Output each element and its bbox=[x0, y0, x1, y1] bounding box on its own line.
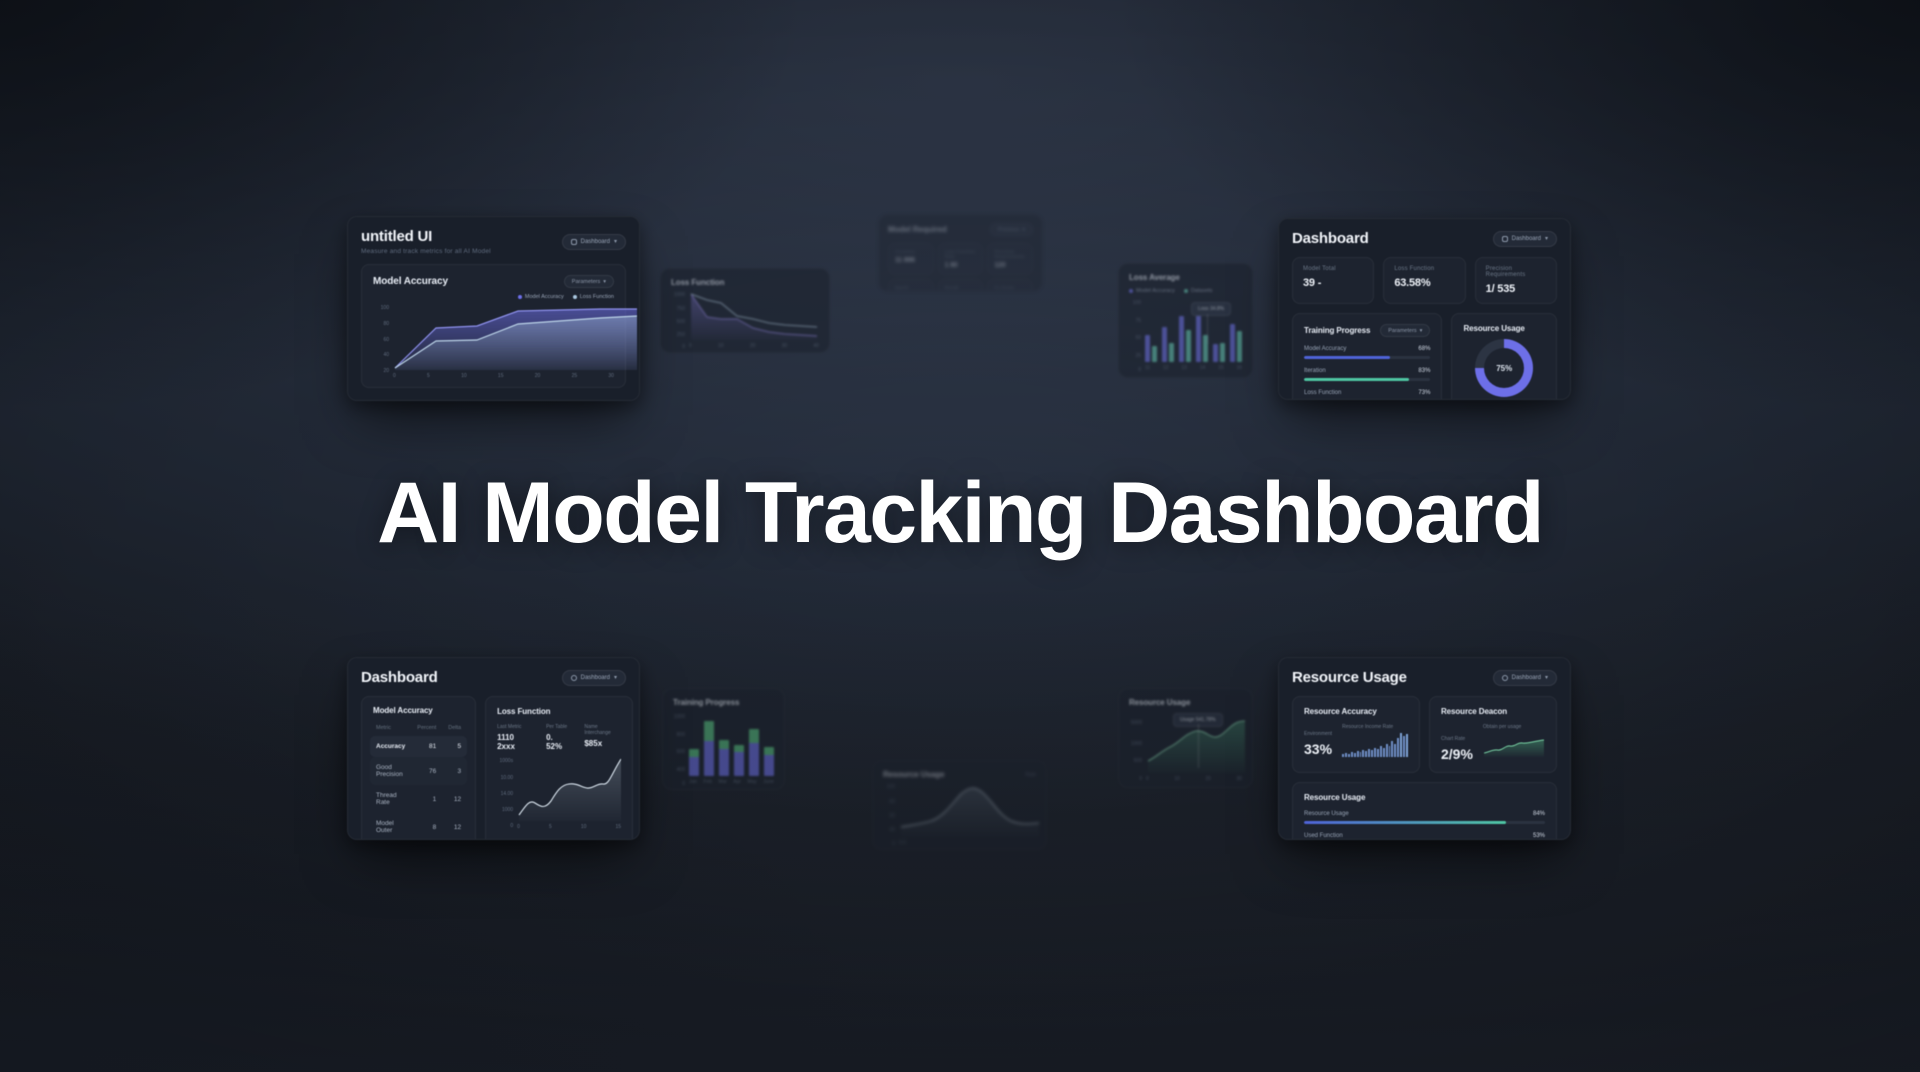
resource-usage-big-header: Resource Usage Dashboard ▾ bbox=[1292, 669, 1557, 686]
card-dashboard-table[interactable]: Dashboard Dashboard ▾ Model Accuracy Met… bbox=[347, 657, 640, 840]
card-resource-usage-ghost[interactable]: Resource Usage Rate 1008060400 bbox=[872, 760, 1047, 850]
loss-function-svg bbox=[517, 757, 621, 821]
previous-button[interactable]: Previous ▾ bbox=[990, 223, 1033, 236]
header-dashboard-button[interactable]: Dashboard ▾ bbox=[562, 670, 626, 686]
header-dashboard-button-label: Dashboard bbox=[1512, 236, 1541, 242]
stat-tile-precision: Precision Requirements 1/ 535 bbox=[1475, 257, 1557, 304]
legend-dot-icon bbox=[1129, 289, 1133, 293]
tooltip-line bbox=[1207, 314, 1208, 344]
resource-deacon-title: Resource Deacon bbox=[1441, 707, 1545, 716]
resource-usage-chart: 1008060400 0.0 bbox=[883, 783, 1036, 847]
stacked-bar bbox=[749, 729, 759, 776]
column-header: Metric bbox=[370, 720, 411, 736]
training-progress-title: Training Progress bbox=[1304, 326, 1370, 335]
loss-function-xaxis: 0 5 10 15 bbox=[497, 821, 621, 830]
model-accuracy-legend: Model Accuracy Loss Function bbox=[373, 294, 614, 300]
loss-function-panel: Loss Function Last Metric1110 2xxx Per T… bbox=[485, 696, 633, 840]
stacked-bar bbox=[704, 721, 714, 776]
legend-item: Model Accuracy bbox=[1129, 288, 1175, 294]
loss-average-xaxis: 11 12 13 14 15 16 bbox=[1129, 362, 1242, 371]
resource-usage-panel: Resource Usage 75% Used 24 hrs/hr Remain… bbox=[1451, 313, 1557, 400]
dashboard-metrics-header: Dashboard Dashboard ▾ bbox=[1292, 230, 1557, 247]
column-header: Percent bbox=[411, 720, 442, 736]
resource-deacon-value: 2/9% bbox=[1441, 746, 1473, 762]
card-training-progress-small[interactable]: Training Progress 10008006004000 Jan Feb… bbox=[662, 688, 785, 790]
progress-row: Model Accuracy68% bbox=[1304, 346, 1430, 359]
resource-usage-xaxis: 0 10 20 30 bbox=[1129, 773, 1242, 782]
page-subtitle: Measure and track metrics for all AI Mod… bbox=[361, 248, 491, 255]
resource-deacon-panel: Resource Deacon Chart Rate 2/9% Obtain p… bbox=[1429, 696, 1557, 773]
legend-item: Model Accuracy bbox=[518, 294, 564, 300]
header-dashboard-button[interactable]: Dashboard ▾ bbox=[1493, 670, 1557, 686]
column-header: Delta bbox=[442, 720, 467, 736]
resource-usage-title: Resource Usage bbox=[1129, 698, 1242, 707]
loss-function-chart: 10007505002500 0 10 bbox=[671, 292, 819, 350]
model-params-title: Model Required bbox=[888, 225, 947, 234]
card-dashboard-metrics[interactable]: Dashboard Dashboard ▾ Model Total 39 - L… bbox=[1278, 218, 1571, 400]
card-resource-usage-big[interactable]: Resource Usage Dashboard ▾ Resource Accu… bbox=[1278, 657, 1571, 840]
card-resource-usage-small[interactable]: Resource Usage 500010005000 Usage 5 bbox=[1118, 688, 1253, 788]
legend-dot-icon bbox=[1184, 289, 1188, 293]
page-title: Dashboard bbox=[361, 669, 438, 686]
loss-function-svg bbox=[689, 292, 819, 340]
loss-average-title: Loss Average bbox=[1129, 273, 1242, 282]
table-row[interactable]: Thread Rate 1 12 bbox=[370, 785, 467, 813]
stacked-bar bbox=[734, 745, 744, 776]
chevron-down-icon: ▾ bbox=[603, 279, 606, 285]
card-model-params[interactable]: Model Required Previous ▾ Accuracy11 886… bbox=[878, 214, 1043, 292]
chevron-down-icon: ▾ bbox=[614, 674, 617, 681]
model-accuracy-xaxis: 0 5 10 15 20 25 30 bbox=[373, 370, 614, 379]
chevron-down-icon: ▾ bbox=[1022, 227, 1025, 233]
chart-tooltip: Loss 34.8% bbox=[1191, 302, 1231, 316]
donut-center-value: 75% bbox=[1484, 348, 1524, 388]
model-params-grid: Accuracy11 886 Loss Function Rate1 80 Pr… bbox=[888, 243, 1033, 292]
legend-dot-icon bbox=[518, 295, 522, 299]
table-header-row: Metric Percent Delta bbox=[370, 720, 467, 736]
training-progress-chart: 10008006004000 Jan Feb Mar Apr May June bbox=[673, 712, 774, 788]
stat: Per Table0. 52% bbox=[546, 724, 568, 751]
page-title: untitled UI bbox=[361, 228, 491, 245]
legend-dot-icon bbox=[573, 295, 577, 299]
resource-usage-title: Resource Usage bbox=[883, 770, 944, 779]
chevron-down-icon: ▾ bbox=[614, 238, 617, 245]
parameters-button[interactable]: Parameters ▾ bbox=[564, 275, 614, 288]
parameters-button-label: Parameters bbox=[572, 279, 600, 285]
sparkline-area bbox=[1483, 733, 1545, 757]
legend-item: Datasets bbox=[1184, 288, 1213, 294]
progress-row: Loss Function73% bbox=[1304, 390, 1430, 400]
training-progress-xaxis: Jan Feb Mar Apr May June bbox=[673, 776, 774, 785]
card-untitled-ui[interactable]: untitled UI Measure and track metrics fo… bbox=[347, 216, 640, 401]
stat-tile: F1 Score815 008 bbox=[987, 279, 1033, 292]
hero-title: AI Model Tracking Dashboard bbox=[0, 470, 1920, 556]
metric-tiles: Model Total 39 - Loss Function 63.58% Pr… bbox=[1292, 257, 1557, 304]
bar-group bbox=[1162, 327, 1174, 362]
tooltip-line bbox=[1198, 724, 1199, 768]
stacked-bar bbox=[719, 740, 729, 776]
table-row[interactable]: Good Precision 76 3 bbox=[370, 757, 467, 785]
resource-usage-chart: 500010005000 Usage 541.78% 0 bbox=[1129, 711, 1242, 785]
stat-tile: Recall54 006 bbox=[938, 279, 984, 292]
dashboard-icon bbox=[1502, 236, 1508, 242]
page-title: Resource Usage bbox=[1292, 669, 1407, 686]
model-accuracy-table-panel: Model Accuracy Metric Percent Delta Accu… bbox=[361, 696, 476, 840]
dashboard-icon bbox=[1502, 675, 1508, 681]
table-row[interactable]: Accuracy 81 5 bbox=[370, 736, 467, 757]
header-dashboard-button[interactable]: Dashboard ▾ bbox=[1493, 231, 1557, 247]
model-accuracy-table-title: Model Accuracy bbox=[370, 706, 467, 715]
resource-accuracy-panel: Resource Accuracy Environment 33% Resour… bbox=[1292, 696, 1420, 773]
stacked-bar bbox=[764, 747, 774, 776]
model-accuracy-panel: Model Accuracy Parameters ▾ Model Accura… bbox=[361, 264, 626, 388]
sparkline-bars bbox=[1342, 733, 1408, 757]
parameters-button[interactable]: Parameters ▾ bbox=[1380, 324, 1430, 337]
loss-function-xaxis: 0 10 20 30 40 bbox=[671, 340, 819, 349]
stat: Name Interchange$85x bbox=[584, 724, 621, 751]
stat-tile: Epoch22 3300 bbox=[888, 279, 934, 292]
training-progress-title: Training Progress bbox=[673, 698, 774, 707]
loss-function-title: Loss Function bbox=[671, 278, 819, 287]
progress-row: Resource Usage84% bbox=[1304, 811, 1545, 824]
stacked-bar bbox=[689, 749, 699, 776]
resource-usage-svg bbox=[899, 783, 1041, 837]
resource-accuracy-title: Resource Accuracy bbox=[1304, 707, 1408, 716]
bar-group bbox=[1145, 335, 1157, 362]
stat: Last Metric1110 2xxx bbox=[497, 724, 530, 751]
model-accuracy-svg bbox=[393, 304, 639, 370]
bar-group bbox=[1179, 316, 1191, 362]
progress-row: Iteration83% bbox=[1304, 368, 1430, 381]
resource-usage-progress-title: Resource Usage bbox=[1304, 793, 1545, 802]
stat-tile-loss-function: Loss Function 63.58% bbox=[1383, 257, 1465, 304]
stat-tile: Precision Requirements120 bbox=[987, 243, 1033, 275]
model-accuracy-table[interactable]: Metric Percent Delta Accuracy 81 5 Good … bbox=[370, 720, 467, 840]
chevron-down-icon: ▾ bbox=[1420, 328, 1423, 334]
hero: AI Model Tracking Dashboard bbox=[0, 470, 1920, 556]
axis-note: Rate bbox=[1025, 772, 1036, 778]
legend-item: Loss Function bbox=[573, 294, 614, 300]
model-accuracy-title: Model Accuracy bbox=[373, 276, 448, 287]
chevron-down-icon: ▾ bbox=[1545, 674, 1548, 681]
loss-average-chart: 1007550250 Loss 34.8% 11 12 13 14 15 16 bbox=[1129, 298, 1242, 374]
stat-tile: Loss Function Rate1 80 bbox=[938, 243, 984, 275]
dashboard-icon bbox=[571, 239, 577, 245]
card-loss-function-small[interactable]: Loss Function 10007505002500 bbox=[660, 268, 830, 353]
dashboard-table-header: Dashboard Dashboard ▾ bbox=[361, 669, 626, 686]
resource-usage-title: Resource Usage bbox=[1463, 324, 1545, 333]
bar-group bbox=[1213, 343, 1225, 362]
resource-accuracy-value: 33% bbox=[1304, 741, 1332, 757]
page-title: Dashboard bbox=[1292, 230, 1369, 247]
header-dashboard-button[interactable]: Dashboard ▾ bbox=[562, 234, 626, 250]
card-untitled-ui-header: untitled UI Measure and track metrics fo… bbox=[361, 228, 626, 255]
loss-function-chart: 1000s10.0014.0010000 bbox=[497, 757, 621, 831]
progress-row: Used Function53% bbox=[1304, 833, 1545, 840]
table-row[interactable]: Model Outer 8 12 bbox=[370, 813, 467, 840]
loss-average-legend: Model Accuracy Datasets bbox=[1129, 288, 1242, 294]
loss-function-title: Loss Function bbox=[497, 707, 621, 716]
loss-function-stats: Last Metric1110 2xxx Per Table0. 52% Nam… bbox=[497, 724, 621, 751]
bar-group bbox=[1230, 324, 1242, 362]
resource-usage-xaxis: 0.0 bbox=[883, 837, 1036, 846]
stat-tile: Accuracy11 886 bbox=[888, 243, 934, 275]
header-dashboard-button-label: Dashboard bbox=[581, 675, 610, 681]
donut-chart: 75% bbox=[1475, 339, 1533, 397]
dashboard-icon bbox=[571, 675, 577, 681]
model-accuracy-chart: 10080604020 bbox=[373, 304, 614, 378]
chevron-down-icon: ▾ bbox=[1545, 235, 1548, 242]
header-dashboard-button-label: Dashboard bbox=[581, 239, 610, 245]
training-progress-panel: Training Progress Parameters ▾ Model Acc… bbox=[1292, 313, 1442, 400]
resource-usage-progress-panel: Resource Usage Resource Usage84% Used Fu… bbox=[1292, 782, 1557, 840]
stat-tile-model-total: Model Total 39 - bbox=[1292, 257, 1374, 304]
header-dashboard-button-label: Dashboard bbox=[1512, 675, 1541, 681]
card-loss-average[interactable]: Loss Average Model Accuracy Datasets 100… bbox=[1118, 263, 1253, 378]
